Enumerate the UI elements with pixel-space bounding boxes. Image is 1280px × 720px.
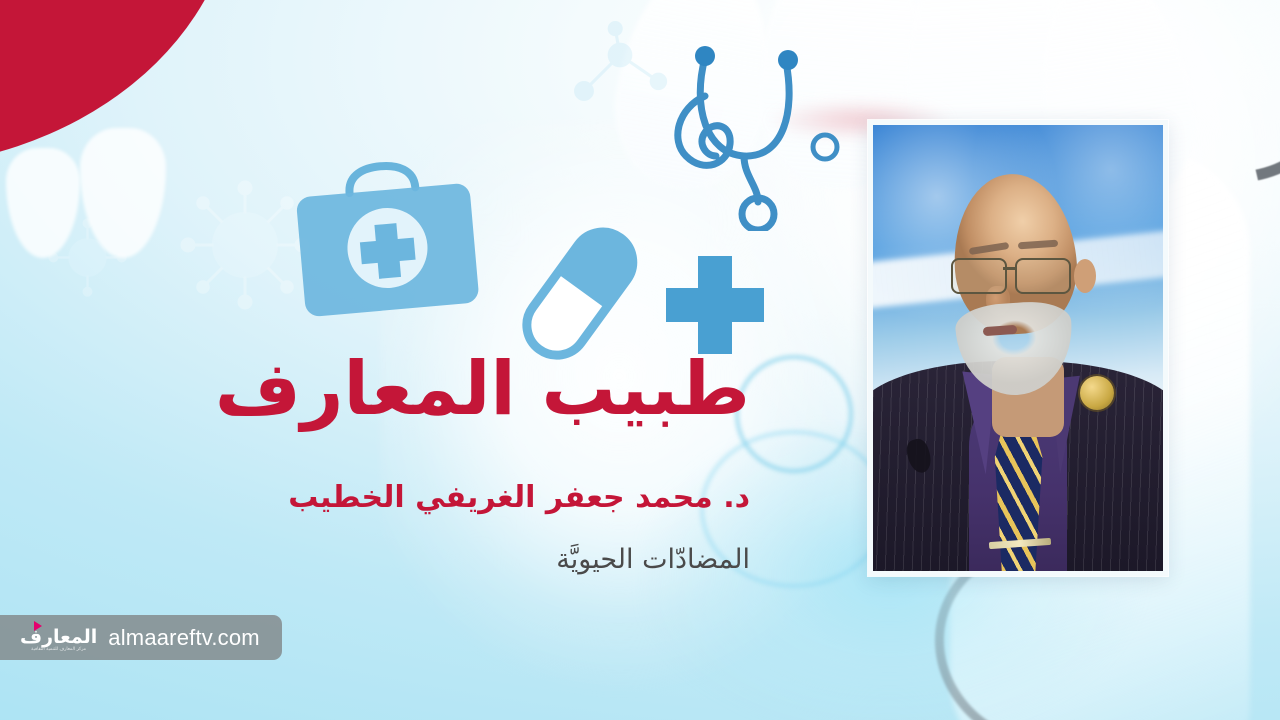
guest-photo-image <box>873 125 1163 571</box>
host-name: د. محمد جعفر الغريفي الخطيب <box>90 480 750 516</box>
almaaref-logo-text: المعارف <box>20 628 97 647</box>
episode-topic: المضادّات الحيويَّة <box>90 543 750 577</box>
ring-icon <box>808 130 842 164</box>
photo-glasses-bridge <box>1003 267 1015 270</box>
program-title: طبيب المعارف <box>90 352 750 426</box>
virus-icon <box>40 210 135 309</box>
molecule-icon <box>560 18 680 132</box>
medical-bag-icon <box>285 152 489 333</box>
almaaref-logo: المعارف مركز المعارف للتنمية الثقافية <box>20 623 97 653</box>
guest-photo <box>868 120 1168 576</box>
almaaref-logo-tagline: مركز المعارف للتنمية الثقافية <box>31 648 86 653</box>
photo-lens-right <box>1015 258 1071 294</box>
channel-url: almaareftv.com <box>108 625 260 651</box>
photo-lens-left <box>951 258 1007 294</box>
channel-watermark: المعارف مركز المعارف للتنمية الثقافية al… <box>0 615 282 660</box>
medical-cross-icon <box>660 250 770 360</box>
photo-lapel-badge <box>1080 376 1114 410</box>
eyeglasses-icon <box>951 254 1085 294</box>
episode-title-card: 283 طبيب المعارف د. محمد جعفر الغريفي ال… <box>0 0 1280 720</box>
stethoscope-icon <box>672 36 872 231</box>
play-triangle-icon <box>34 621 42 631</box>
